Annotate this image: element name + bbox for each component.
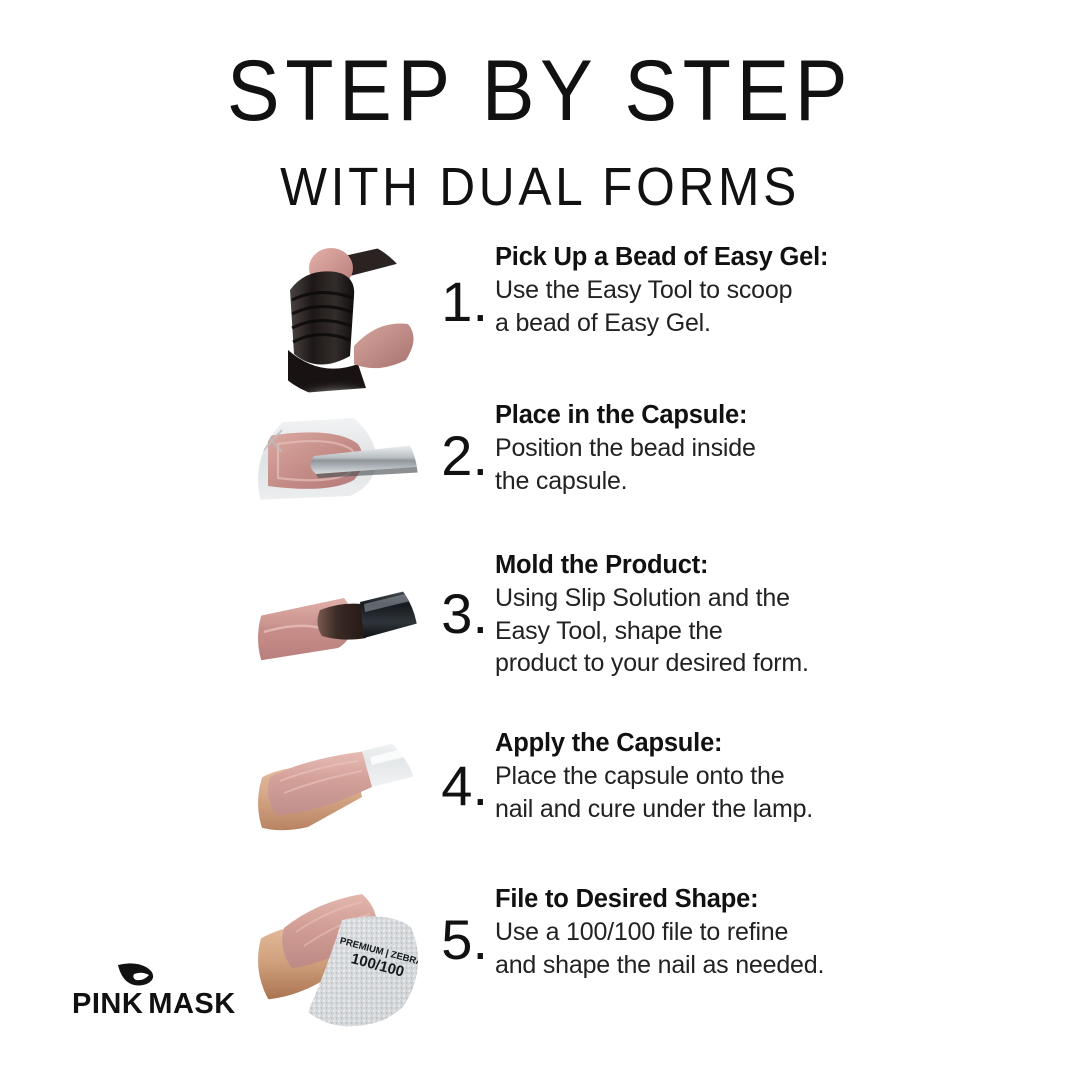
step-text-block: Mold the Product: Using Slip Solution an… (495, 550, 935, 680)
step-body-line: a bead of Easy Gel. (495, 307, 935, 340)
list-item: 3. Mold the Product: Using Slip Solution… (0, 552, 1080, 712)
step-number: 5. (432, 912, 488, 968)
step-image-1 (258, 238, 418, 398)
step-image-2 (258, 400, 418, 560)
gel-bottle-illustration (258, 238, 418, 398)
step-body: Using Slip Solution and the Easy Tool, s… (495, 582, 935, 680)
step-body: Use the Easy Tool to scoop a bead of Eas… (495, 274, 935, 339)
brand-logo: PINKMASK (72, 962, 252, 1019)
step-title: Apply the Capsule: (495, 728, 935, 758)
step-title: File to Desired Shape: (495, 884, 935, 914)
step-body-line: Use the Easy Tool to scoop (495, 274, 935, 307)
step-body-line: Use a 100/100 file to refine (495, 916, 935, 949)
step-body-line: Place the capsule onto the (495, 760, 935, 793)
step-body: Use a 100/100 file to refine and shape t… (495, 916, 935, 981)
step-image-5: 100/100 PREMIUM | ZEBRA (258, 880, 418, 1040)
step-title: Place in the Capsule: (495, 400, 935, 430)
step-text-block: Apply the Capsule: Place the capsule ont… (495, 728, 935, 825)
step-title: Mold the Product: (495, 550, 935, 580)
page-subtitle: WITH DUAL FORMS (43, 134, 1037, 214)
step-number: 2. (432, 428, 488, 484)
step-body-line: and shape the nail as needed. (495, 949, 935, 982)
step-body-line: Easy Tool, shape the (495, 615, 935, 648)
list-item: 1. Pick Up a Bead of Easy Gel: Use the E… (0, 232, 1080, 392)
step-number: 4. (432, 758, 488, 814)
step-text-block: Place in the Capsule: Position the bead … (495, 400, 935, 497)
step-image-4 (258, 723, 418, 883)
step-number: 3. (432, 586, 488, 642)
step-body-line: nail and cure under the lamp. (495, 793, 935, 826)
header: STEP BY STEP WITH DUAL FORMS (0, 0, 1080, 214)
nail-file-illustration: 100/100 PREMIUM | ZEBRA (258, 880, 418, 1040)
brand-wordmark: PINKMASK (72, 990, 252, 1019)
steps-list: 1. Pick Up a Bead of Easy Gel: Use the E… (0, 232, 1080, 1032)
page-title: STEP BY STEP (43, 0, 1037, 134)
step-body-line: Using Slip Solution and the (495, 582, 935, 615)
step-number: 1. (432, 274, 488, 330)
dual-form-capsule-illustration (258, 400, 418, 560)
step-body: Position the bead inside the capsule. (495, 432, 935, 497)
step-text-block: Pick Up a Bead of Easy Gel: Use the Easy… (495, 242, 935, 339)
list-item: 2. Place in the Capsule: Position the be… (0, 392, 1080, 552)
step-body-line: the capsule. (495, 465, 935, 498)
list-item: 4. Apply the Capsule: Place the capsule … (0, 712, 1080, 872)
brand-word-mask: MASK (148, 988, 235, 1020)
step-body: Place the capsule onto the nail and cure… (495, 760, 935, 825)
leaf-mask-icon (116, 962, 156, 988)
brand-word-pink: PINK (72, 988, 143, 1020)
step-body-line: Position the bead inside (495, 432, 935, 465)
step-body-line: product to your desired form. (495, 647, 935, 680)
capsule-on-nail-illustration (258, 723, 418, 883)
step-image-3 (258, 558, 418, 718)
brush-molding-illustration (258, 558, 418, 718)
step-text-block: File to Desired Shape: Use a 100/100 fil… (495, 884, 935, 981)
step-title: Pick Up a Bead of Easy Gel: (495, 242, 935, 272)
